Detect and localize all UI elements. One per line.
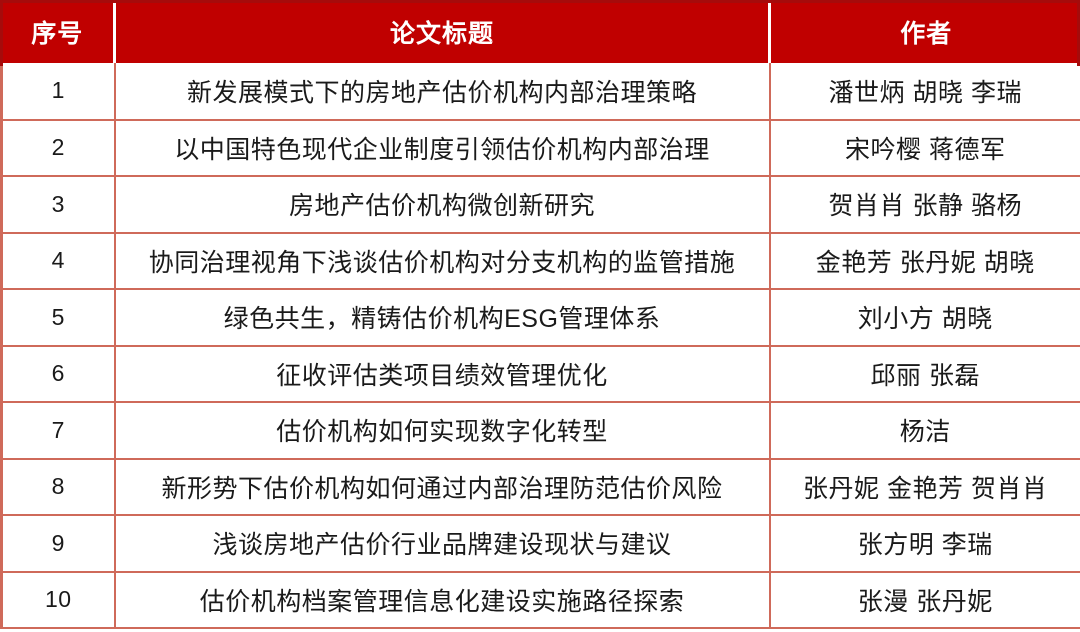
cell-index: 5: [2, 289, 115, 346]
cell-title: 房地产估价机构微创新研究: [115, 176, 770, 233]
cell-title: 协同治理视角下浅谈估价机构对分支机构的监管措施: [115, 233, 770, 290]
cell-index: 1: [2, 63, 115, 120]
cell-author: 宋吟樱 蒋德军: [770, 120, 1080, 177]
cell-index: 7: [2, 402, 115, 459]
column-header-title: 论文标题: [115, 0, 770, 63]
cell-title: 新发展模式下的房地产估价机构内部治理策略: [115, 63, 770, 120]
cell-author: 杨洁: [770, 402, 1080, 459]
table-row: 3 房地产估价机构微创新研究 贺肖肖 张静 骆杨: [2, 176, 1080, 233]
cell-author: 张丹妮 金艳芳 贺肖肖: [770, 459, 1080, 516]
table-row: 10 估价机构档案管理信息化建设实施路径探索 张漫 张丹妮: [2, 572, 1080, 629]
cell-title: 估价机构如何实现数字化转型: [115, 402, 770, 459]
cell-title: 新形势下估价机构如何通过内部治理防范估价风险: [115, 459, 770, 516]
cell-author: 张漫 张丹妮: [770, 572, 1080, 629]
cell-author: 金艳芳 张丹妮 胡晓: [770, 233, 1080, 290]
cell-title: 以中国特色现代企业制度引领估价机构内部治理: [115, 120, 770, 177]
table-header-row: 序号 论文标题 作者: [2, 0, 1080, 63]
cell-index: 2: [2, 120, 115, 177]
table-row: 4 协同治理视角下浅谈估价机构对分支机构的监管措施 金艳芳 张丹妮 胡晓: [2, 233, 1080, 290]
cell-index: 3: [2, 176, 115, 233]
cell-index: 10: [2, 572, 115, 629]
paper-list-table-page: 序号 论文标题 作者 1 新发展模式下的房地产估价机构内部治理策略 潘世炳 胡晓…: [0, 0, 1080, 632]
table-row: 8 新形势下估价机构如何通过内部治理防范估价风险 张丹妮 金艳芳 贺肖肖: [2, 459, 1080, 516]
cell-author: 潘世炳 胡晓 李瑞: [770, 63, 1080, 120]
cell-index: 4: [2, 233, 115, 290]
table-body: 1 新发展模式下的房地产估价机构内部治理策略 潘世炳 胡晓 李瑞 2 以中国特色…: [2, 63, 1080, 628]
cell-title: 绿色共生，精铸估价机构ESG管理体系: [115, 289, 770, 346]
cell-author: 邱丽 张磊: [770, 346, 1080, 403]
table-header: 序号 论文标题 作者: [2, 0, 1080, 63]
cell-author: 贺肖肖 张静 骆杨: [770, 176, 1080, 233]
table-row: 9 浅谈房地产估价行业品牌建设现状与建议 张方明 李瑞: [2, 515, 1080, 572]
cell-author: 张方明 李瑞: [770, 515, 1080, 572]
cell-title: 估价机构档案管理信息化建设实施路径探索: [115, 572, 770, 629]
cell-author: 刘小方 胡晓: [770, 289, 1080, 346]
table-row: 5 绿色共生，精铸估价机构ESG管理体系 刘小方 胡晓: [2, 289, 1080, 346]
table-row: 6 征收评估类项目绩效管理优化 邱丽 张磊: [2, 346, 1080, 403]
cell-title: 征收评估类项目绩效管理优化: [115, 346, 770, 403]
paper-list-table: 序号 论文标题 作者 1 新发展模式下的房地产估价机构内部治理策略 潘世炳 胡晓…: [0, 0, 1080, 629]
cell-title: 浅谈房地产估价行业品牌建设现状与建议: [115, 515, 770, 572]
table-row: 2 以中国特色现代企业制度引领估价机构内部治理 宋吟樱 蒋德军: [2, 120, 1080, 177]
cell-index: 8: [2, 459, 115, 516]
column-header-index: 序号: [2, 0, 115, 63]
cell-index: 9: [2, 515, 115, 572]
table-row: 7 估价机构如何实现数字化转型 杨洁: [2, 402, 1080, 459]
column-header-author: 作者: [770, 0, 1080, 63]
cell-index: 6: [2, 346, 115, 403]
table-row: 1 新发展模式下的房地产估价机构内部治理策略 潘世炳 胡晓 李瑞: [2, 63, 1080, 120]
